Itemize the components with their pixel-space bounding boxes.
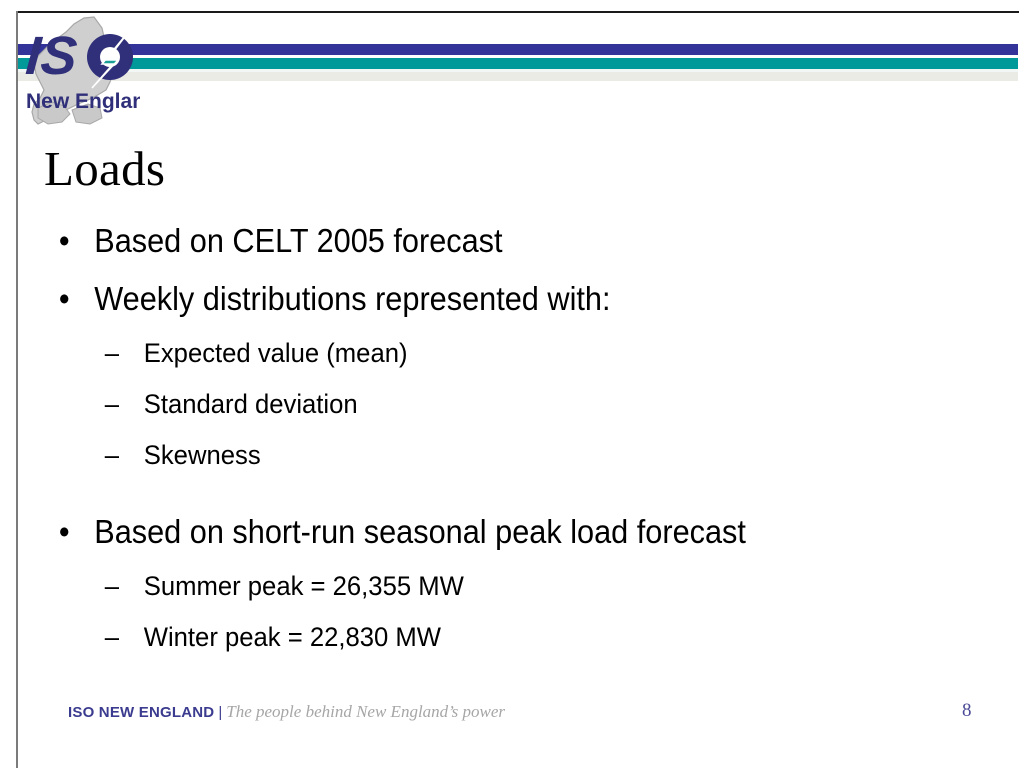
bullet-marker-dash: –	[105, 430, 119, 481]
bullet-text: Skewness	[144, 440, 261, 470]
bullet-text: Based on short-run seasonal peak load fo…	[94, 513, 746, 550]
bullet-group-spacer	[44, 481, 994, 503]
bullet-marker-dot: •	[59, 270, 70, 328]
bullet-marker-dot: •	[59, 503, 70, 561]
bullet-marker-dot: •	[59, 212, 70, 270]
header-bar-teal	[18, 58, 1018, 69]
footer-separator: |	[214, 704, 226, 721]
svg-text:New England: New England	[26, 90, 140, 113]
bullet-text: Expected value (mean)	[144, 338, 408, 368]
bullet-level1: • Weekly distributions represented with:	[44, 270, 928, 328]
bullet-marker-dash: –	[105, 379, 119, 430]
bullet-marker-dash: –	[105, 561, 119, 612]
iso-new-england-logo: IS New England	[18, 12, 140, 134]
logo-wordmark-new-england: New England	[26, 90, 140, 113]
bullet-marker-dash: –	[105, 612, 119, 663]
bullet-marker-dash: –	[105, 328, 119, 379]
footer-brand: ISO NEW ENGLAND	[68, 704, 214, 721]
slide-title: Loads	[44, 140, 165, 198]
presentation-slide: IS New England Loads • Based on CELT 200…	[0, 0, 1024, 768]
slide-footer: ISO NEW ENGLAND|The people behind New En…	[68, 702, 505, 722]
bullet-level2: – Expected value (mean)	[44, 328, 947, 379]
bullet-level1: • Based on CELT 2005 forecast	[44, 212, 928, 270]
bullet-text: Winter peak = 22,830 MW	[144, 622, 441, 652]
bullet-text: Standard deviation	[144, 389, 358, 419]
bullet-level1: • Based on short-run seasonal peak load …	[44, 503, 928, 561]
header-bar-gray	[18, 72, 1018, 81]
slide-body: • Based on CELT 2005 forecast • Weekly d…	[44, 212, 994, 663]
bullet-text: Based on CELT 2005 forecast	[94, 222, 502, 259]
bullet-level2: – Standard deviation	[44, 379, 947, 430]
slide-frame-top-border	[16, 11, 1019, 13]
bullet-level2: – Summer peak = 26,355 MW	[44, 561, 947, 612]
bullet-level2: – Skewness	[44, 430, 947, 481]
header-bar-navy	[18, 44, 1018, 55]
bullet-level2: – Winter peak = 22,830 MW	[44, 612, 947, 663]
page-number: 8	[962, 700, 972, 722]
bullet-text: Weekly distributions represented with:	[94, 280, 610, 317]
footer-tagline: The people behind New England’s power	[226, 702, 505, 721]
svg-text:IS: IS	[24, 26, 79, 86]
bullet-text: Summer peak = 26,355 MW	[144, 571, 464, 601]
